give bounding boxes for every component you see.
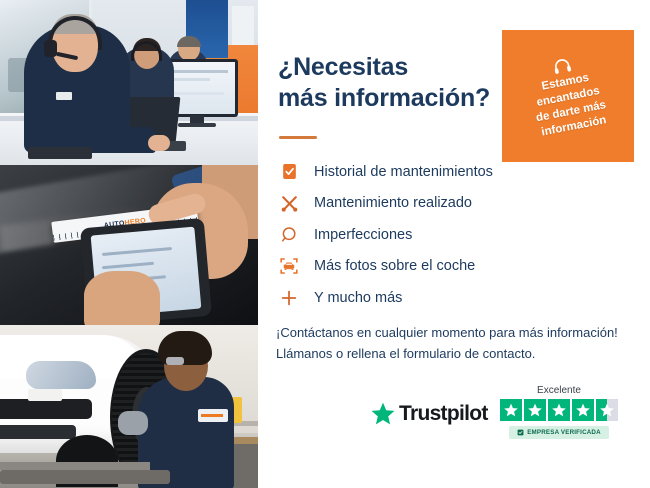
contact-line-2: Llámanos o rellena el formulario de cont… bbox=[276, 346, 535, 361]
check-square-icon bbox=[517, 429, 524, 436]
technician-uniform-logo bbox=[198, 409, 228, 422]
list-item: Historial de mantenimientos bbox=[276, 156, 546, 188]
promo-card: AUTOHERO bbox=[0, 0, 650, 488]
list-item: Más fotos sobre el coche bbox=[276, 251, 546, 283]
badge-content: Estamos encantados de darte más informac… bbox=[491, 19, 646, 174]
list-item-label: Imperfecciones bbox=[314, 227, 412, 243]
list-item-label: Y mucho más bbox=[314, 290, 402, 306]
list-item-label: Historial de mantenimientos bbox=[314, 164, 493, 180]
car-scan-frame-icon bbox=[276, 253, 302, 279]
star-icon bbox=[548, 399, 570, 421]
trustpilot-logo: Trustpilot bbox=[370, 401, 488, 426]
car-lift-arm bbox=[0, 470, 170, 484]
car-license-plate bbox=[28, 389, 62, 401]
monitor-screen-line bbox=[166, 70, 228, 73]
plus-icon bbox=[276, 285, 302, 311]
star-icon bbox=[572, 399, 594, 421]
page-title-line-1: ¿Necesitas bbox=[278, 53, 408, 81]
front-agent-hand bbox=[148, 135, 170, 151]
page-title-line-2: más información? bbox=[278, 84, 490, 112]
car-lift-arm-2 bbox=[0, 462, 150, 470]
list-item: Y mucho más bbox=[276, 282, 546, 314]
trustpilot-wordmark: Trustpilot bbox=[399, 402, 488, 426]
trustpilot-rating: Excelente bbox=[496, 385, 622, 439]
monitor-base bbox=[178, 123, 216, 127]
list-item: Imperfecciones bbox=[276, 219, 546, 251]
monitor-screen-line bbox=[166, 92, 224, 95]
workshop-technician-wheel-photo bbox=[0, 325, 258, 488]
photo-collage: AUTOHERO bbox=[0, 0, 258, 488]
front-agent-name-badge bbox=[56, 92, 72, 100]
checklist-document-icon bbox=[276, 159, 302, 185]
trustpilot-widget[interactable]: Trustpilot Excelente bbox=[370, 385, 622, 447]
star-icon bbox=[370, 401, 396, 426]
call-center-agents-photo bbox=[0, 0, 258, 165]
star-icon-half bbox=[596, 399, 618, 421]
content-panel: ¿Necesitas más información? Estamos enca… bbox=[258, 0, 650, 488]
crossed-tools-icon bbox=[276, 190, 302, 216]
feature-list: Historial de mantenimientos M bbox=[276, 156, 546, 314]
rating-label: Excelente bbox=[496, 385, 622, 396]
desk-tablet bbox=[28, 147, 92, 159]
badge-text: Estamos encantados de darte más informac… bbox=[513, 66, 626, 144]
inspector-second-hand bbox=[84, 271, 160, 325]
star-icon bbox=[500, 399, 522, 421]
car-lower-grille bbox=[0, 425, 76, 439]
car-inspection-ruler-photo: AUTOHERO bbox=[0, 165, 258, 325]
car-grille bbox=[0, 399, 92, 419]
star-icon bbox=[524, 399, 546, 421]
list-item-label: Más fotos sobre el coche bbox=[314, 258, 475, 274]
page-title: ¿Necesitas más información? bbox=[278, 52, 528, 113]
headset-icon bbox=[551, 56, 574, 76]
technician-safety-glasses bbox=[166, 357, 184, 365]
verified-badge-text: EMPRESA VERIFICADA bbox=[527, 429, 601, 436]
title-divider bbox=[279, 136, 317, 139]
list-item: Mantenimiento realizado bbox=[276, 188, 546, 220]
verified-badge: EMPRESA VERIFICADA bbox=[509, 426, 609, 439]
technician-glove bbox=[118, 411, 148, 435]
list-item-label: Mantenimiento realizado bbox=[314, 195, 472, 211]
car-headlight bbox=[26, 361, 96, 389]
star-rating bbox=[496, 399, 622, 421]
magnifier-icon bbox=[276, 222, 302, 248]
contact-text: ¡Contáctanos en cualquier momento para m… bbox=[276, 322, 622, 364]
status-badge: Estamos encantados de darte más informac… bbox=[502, 30, 634, 162]
contact-line-1: ¡Contáctanos en cualquier momento para m… bbox=[276, 325, 618, 340]
